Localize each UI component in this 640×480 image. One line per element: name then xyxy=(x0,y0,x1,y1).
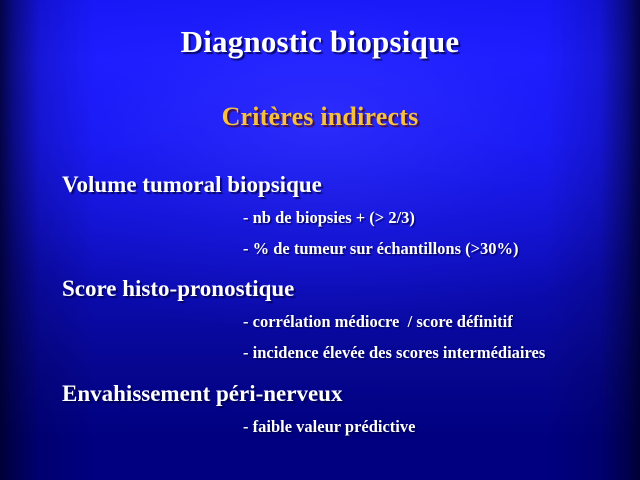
content-section-1: Volume tumoral biopsique - nb de biopsie… xyxy=(0,170,640,261)
slide-subtitle: Critères indirects xyxy=(0,102,640,132)
slide-title: Diagnostic biopsique xyxy=(0,24,640,60)
section-heading-3: Envahissement péri-nerveux xyxy=(0,379,640,409)
presentation-slide: Diagnostic biopsique Critères indirects … xyxy=(0,0,640,480)
section-1-bullet-2: - % de tumeur sur échantillons (>30%) xyxy=(0,236,640,261)
content-section-3: Envahissement péri-nerveux - faible vale… xyxy=(0,379,640,439)
slide-content: Diagnostic biopsique Critères indirects … xyxy=(0,0,640,480)
section-2-bullet-2: - incidence élevée des scores intermédia… xyxy=(0,340,640,365)
section-2-bullet-1: - corrélation médiocre / score définitif xyxy=(0,309,640,334)
section-3-bullet-1: - faible valeur prédictive xyxy=(0,414,640,439)
section-heading-1: Volume tumoral biopsique xyxy=(0,170,640,200)
section-1-bullet-1: - nb de biopsies + (> 2/3) xyxy=(0,205,640,230)
slide-body: Volume tumoral biopsique - nb de biopsie… xyxy=(0,170,640,439)
content-section-2: Score histo-pronostique - corrélation mé… xyxy=(0,274,640,365)
section-heading-2: Score histo-pronostique xyxy=(0,274,640,304)
